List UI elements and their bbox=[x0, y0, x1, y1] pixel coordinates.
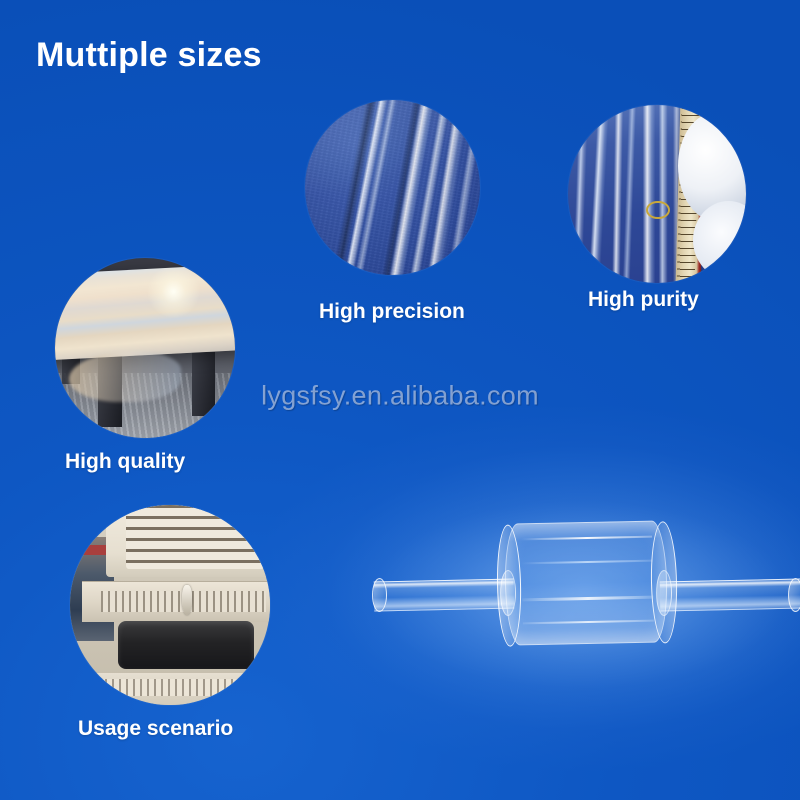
feature-caption: High purity bbox=[588, 288, 699, 312]
feature-high-quality[interactable]: High quality bbox=[55, 258, 235, 488]
hero-tube-cap-left bbox=[372, 578, 387, 612]
high-quality-image bbox=[55, 258, 235, 438]
high-purity-image bbox=[568, 105, 746, 283]
hero-cylinder-body bbox=[504, 520, 669, 645]
hero-tube-right bbox=[660, 579, 800, 612]
feature-caption: High quality bbox=[65, 450, 185, 474]
hero-tube-cap-right bbox=[788, 578, 800, 612]
hero-product-image bbox=[360, 500, 800, 690]
feature-usage-scenario[interactable]: Usage scenario bbox=[70, 505, 270, 755]
hero-tube-left bbox=[374, 579, 515, 612]
product-banner: Muttiple sizes High precision High purit… bbox=[0, 0, 800, 800]
page-title: Muttiple sizes bbox=[36, 36, 262, 75]
feature-high-purity[interactable]: High purity bbox=[568, 105, 746, 330]
feature-high-precision[interactable]: High precision bbox=[305, 100, 480, 340]
feature-caption: High precision bbox=[319, 300, 465, 324]
watermark-text: lygsfsy.en.alibaba.com bbox=[261, 381, 539, 412]
usage-scenario-image bbox=[70, 505, 270, 705]
high-precision-image bbox=[305, 100, 480, 275]
feature-caption: Usage scenario bbox=[78, 717, 233, 741]
